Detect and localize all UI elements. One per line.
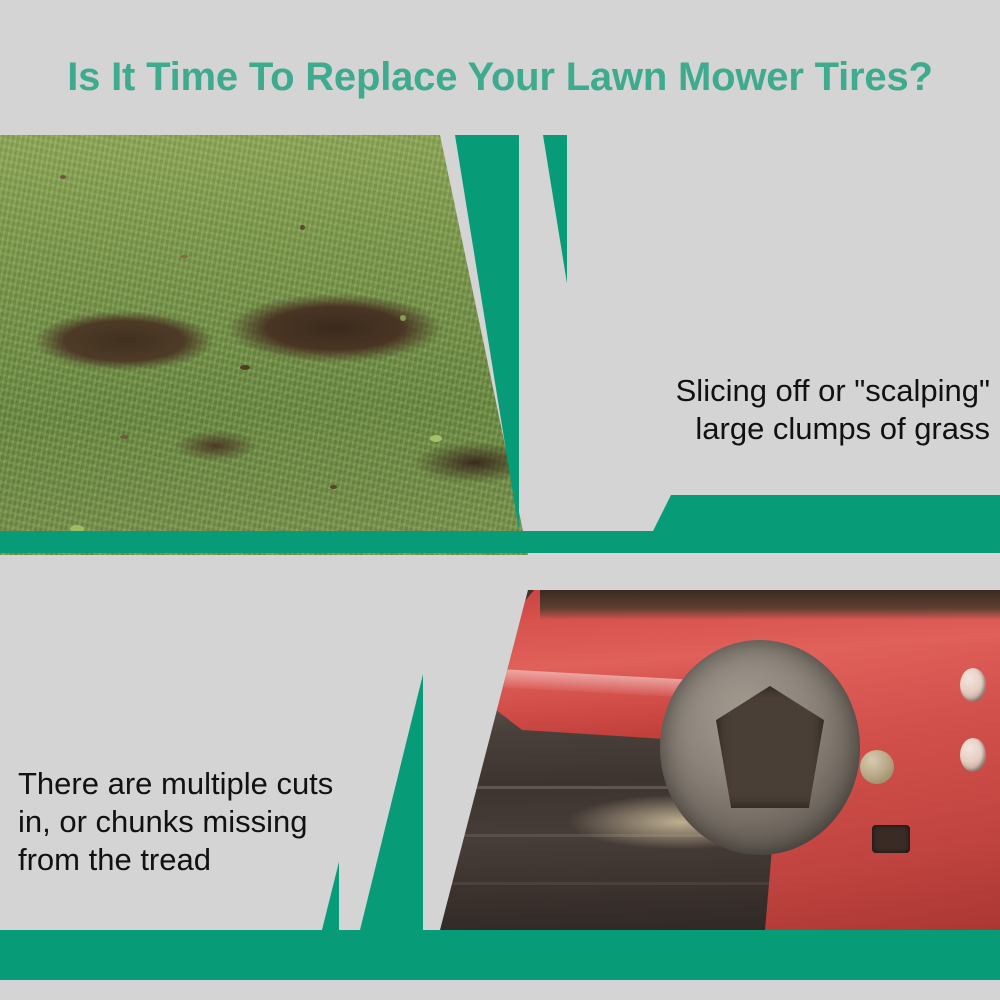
section-scalping: Slicing off or "scalping" large clumps o… — [0, 135, 1000, 565]
caster-wheel-tire — [660, 640, 860, 855]
photo-mower-wheel — [420, 590, 1000, 930]
wheel-bolt — [860, 750, 894, 784]
bracket-slot — [872, 825, 910, 853]
infographic-poster: Is It Time To Replace Your Lawn Mower Ti… — [0, 0, 1000, 1000]
photo-scalped-lawn — [0, 135, 540, 555]
diagonal-accent-stripe — [543, 135, 567, 531]
section-tread-damage: There are multiple cuts in, or chunks mi… — [0, 570, 1000, 1000]
accent-block — [607, 135, 1000, 531]
wheel-hub — [716, 686, 824, 808]
accent-bar-bottom — [0, 930, 1000, 980]
caption-tread-damage: There are multiple cuts in, or chunks mi… — [18, 765, 378, 878]
shed-background — [540, 590, 1000, 620]
caption-scalping: Slicing off or "scalping" large clumps o… — [570, 372, 990, 448]
page-title: Is It Time To Replace Your Lawn Mower Ti… — [0, 55, 1000, 100]
accent-bar-bottom — [0, 531, 1000, 553]
